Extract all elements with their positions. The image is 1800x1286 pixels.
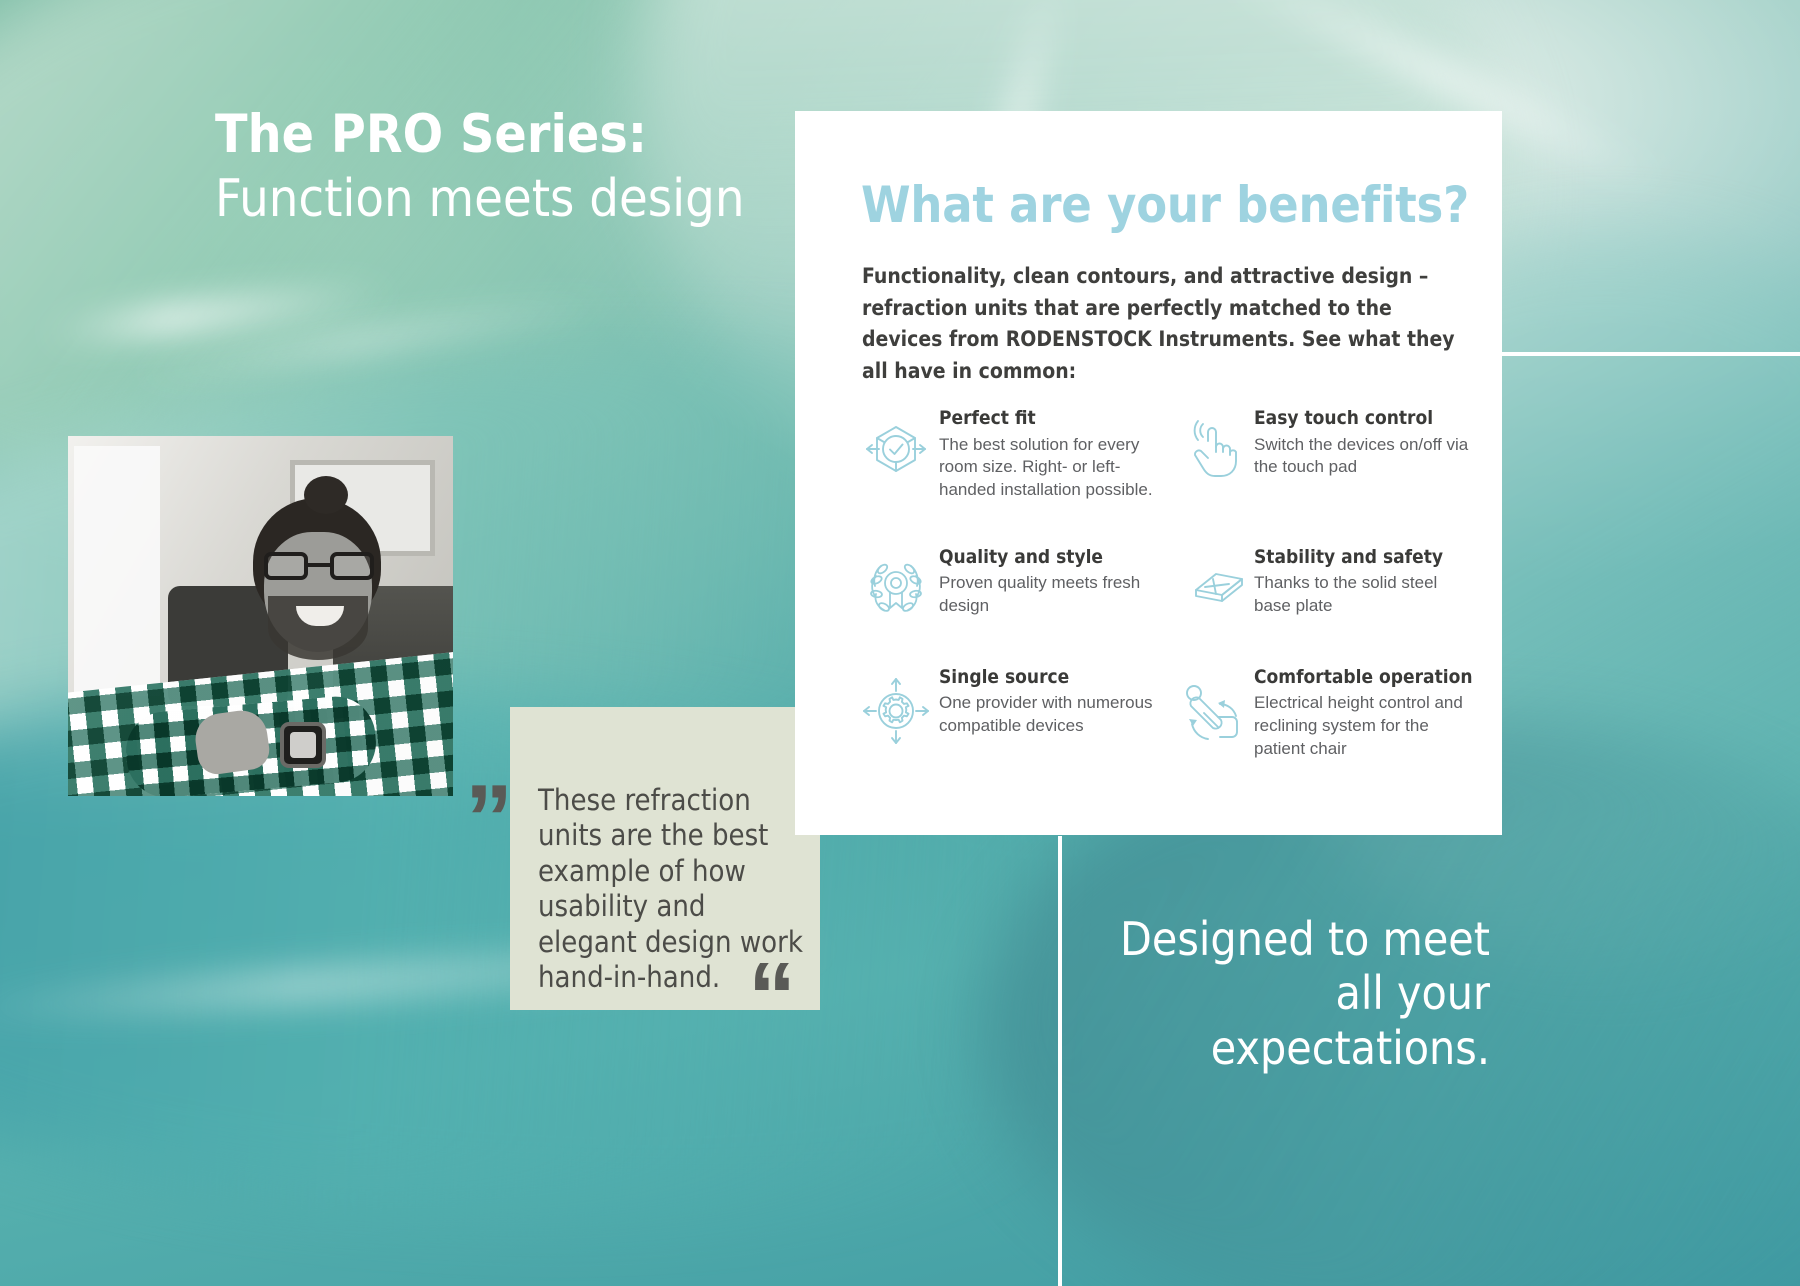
benefit-item-stability-and-safety: Stability and safety Thanks to the solid… — [1168, 546, 1483, 624]
divider-vertical — [1058, 836, 1062, 1286]
hero-title-light: Function meets design — [215, 170, 775, 228]
benefit-desc: The best solution for every room size. R… — [939, 434, 1160, 502]
benefits-grid: Perfect fit The best solution for every … — [853, 407, 1483, 760]
benefit-item-comfortable-operation: Comfortable operation Electrical height … — [1168, 666, 1483, 761]
touch-hand-icon — [1168, 407, 1254, 485]
benefit-item-easy-touch-control: Easy touch control Switch the devices on… — [1168, 407, 1483, 502]
quote-close-mark: “ — [748, 968, 796, 1026]
benefit-desc: Electrical height control and reclining … — [1254, 692, 1475, 760]
laurel-award-icon — [853, 546, 939, 624]
benefit-item-perfect-fit: Perfect fit The best solution for every … — [853, 407, 1168, 502]
benefit-title: Easy touch control — [1254, 407, 1475, 431]
hero-title-bold: The PRO Series: — [215, 108, 775, 161]
hero-headline: The PRO Series: Function meets design — [215, 108, 775, 228]
benefit-title: Quality and style — [939, 546, 1160, 570]
benefit-desc: Proven quality meets fresh design — [939, 572, 1160, 617]
benefit-desc: One provider with numerous compatible de… — [939, 692, 1160, 737]
benefits-panel: What are your benefits? Functionality, c… — [795, 111, 1502, 835]
gear-arrows-icon — [853, 666, 939, 748]
box-check-arrows-icon — [853, 407, 939, 485]
base-plate-icon — [1168, 546, 1254, 624]
quote-open-mark: ” — [465, 790, 513, 848]
benefit-title: Perfect fit — [939, 407, 1160, 431]
footer-headline: Designed to meet all your expectations. — [1090, 912, 1490, 1075]
benefit-item-quality-and-style: Quality and style Proven quality meets f… — [853, 546, 1168, 624]
benefit-title: Stability and safety — [1254, 546, 1475, 570]
benefits-subheading: Functionality, clean contours, and attra… — [862, 261, 1472, 387]
benefit-title: Comfortable operation — [1254, 666, 1475, 690]
portrait-photo — [68, 436, 453, 796]
benefits-heading: What are your benefits? — [861, 176, 1469, 234]
benefit-desc: Switch the devices on/off via the touch … — [1254, 434, 1475, 479]
benefit-item-single-source: Single source One provider with numerous… — [853, 666, 1168, 761]
reclining-chair-icon — [1168, 666, 1254, 748]
benefit-desc: Thanks to the solid steel base plate — [1254, 572, 1475, 617]
brochure-page: The PRO Series: Function meets design ” … — [0, 0, 1800, 1286]
benefit-title: Single source — [939, 666, 1160, 690]
divider-horizontal — [1502, 352, 1800, 356]
